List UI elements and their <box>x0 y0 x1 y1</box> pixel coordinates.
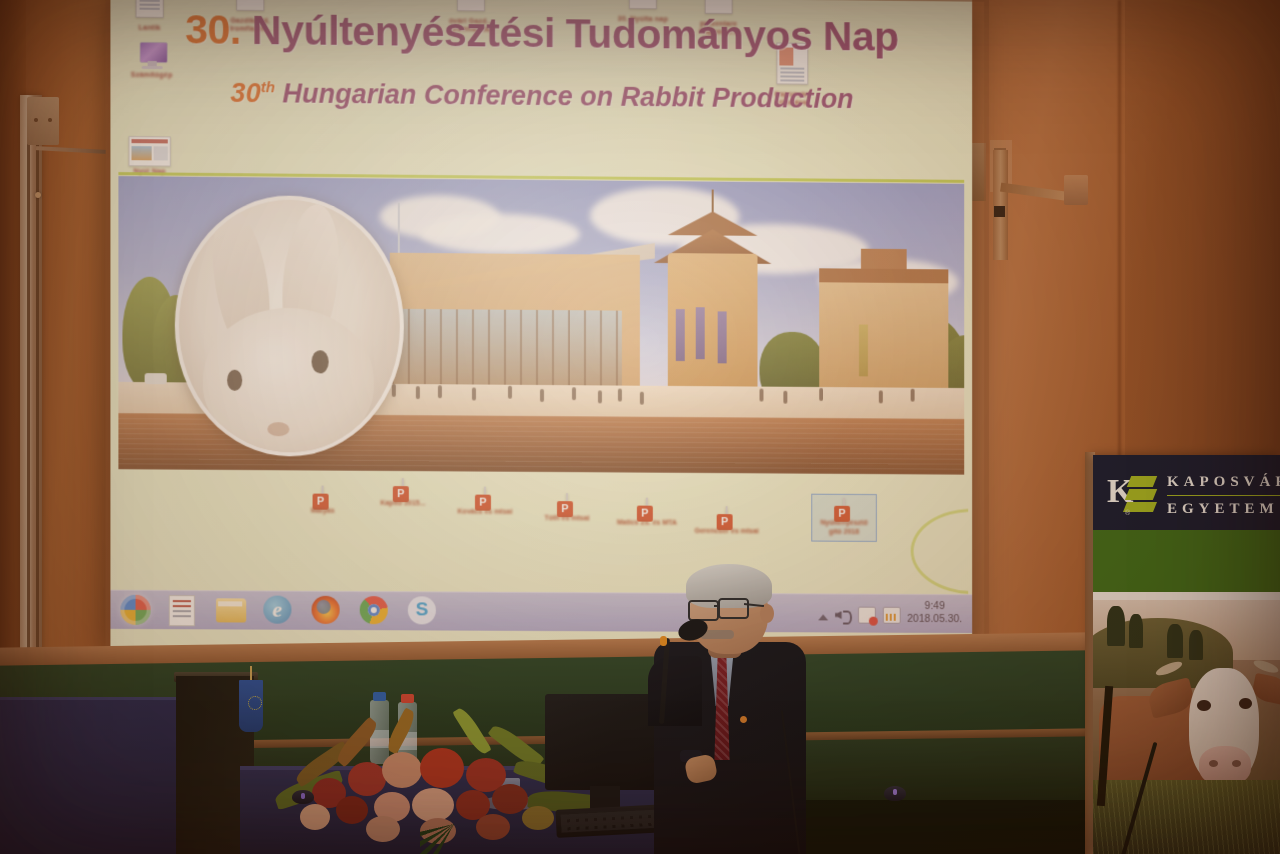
chrome-icon <box>360 596 388 624</box>
photo-banner <box>718 311 727 363</box>
flag-pole <box>250 666 252 680</box>
taskbar-chrome[interactable] <box>360 596 390 626</box>
eu-flag <box>236 672 266 734</box>
powerpoint-thumbnail-icon: P <box>322 486 324 505</box>
rail-groove-secondary <box>36 140 39 685</box>
file-icon-kapito[interactable]: P Kapitó 2015... <box>370 479 436 509</box>
windows-taskbar[interactable]: 9:49 2018.05.30. <box>110 590 972 633</box>
file-label: Gerencsér és mtsai <box>694 528 760 537</box>
rail-bolt <box>48 118 52 122</box>
file-label: Nyúltenyésztő gító 2018 <box>816 520 872 537</box>
bottle-cap <box>401 694 414 703</box>
powerpoint-thumbnail-icon: P <box>726 506 728 525</box>
word-icon <box>169 595 195 626</box>
photo-banner <box>676 309 685 361</box>
kaposvar-logo: K ® <box>1107 472 1153 514</box>
desktop-icon-nyul-nap[interactable]: Nyúl Nap <box>118 136 180 177</box>
conifer <box>1129 614 1143 648</box>
mount-wall-plate <box>1064 175 1088 205</box>
powerpoint-thumbnail-icon: P <box>566 493 568 512</box>
banner-header-navy: K ® KAPOSVÁRI EGYETEM <box>1093 455 1280 530</box>
file-icon-nyultenyeszto-selected[interactable]: P Nyúltenyésztő gító 2018 <box>811 494 877 542</box>
powerpoint-thumbnail-icon: P <box>646 498 648 517</box>
skype-icon <box>408 596 436 624</box>
logo-leaf <box>1127 476 1157 487</box>
slide-title-number: 30. <box>185 6 241 53</box>
photo-person <box>618 389 622 402</box>
rail-bolt <box>34 118 38 122</box>
rabbit-eye-right <box>312 350 329 373</box>
mount-post <box>993 150 1008 260</box>
rabbit-nose <box>267 422 289 436</box>
volume-icon[interactable] <box>835 607 851 623</box>
banner-university-type: EGYETEM <box>1167 500 1279 518</box>
banner-university-name: KAPOSVÁRI <box>1167 473 1280 491</box>
cow-nostril-right <box>1232 760 1241 767</box>
clock-date: 2018.05.30. <box>907 613 962 626</box>
flag-cloth <box>239 680 263 732</box>
system-tray[interactable]: 9:49 2018.05.30. <box>818 596 962 626</box>
rabbit-eye-left <box>227 370 242 391</box>
file-icon-gerencser[interactable]: P Gerencsér és mtsai <box>694 507 760 537</box>
photo-person <box>416 386 420 399</box>
conifer <box>1167 624 1183 658</box>
photo-person <box>879 390 883 403</box>
photo-person <box>819 388 823 401</box>
rail-groove <box>27 140 30 685</box>
photo-person <box>783 391 787 404</box>
photo-person <box>508 386 512 399</box>
taskbar-firefox[interactable] <box>312 596 342 626</box>
network-icon[interactable] <box>882 607 900 624</box>
powerpoint-thumbnail-icon: P <box>402 478 404 497</box>
file-selection-box: P Nyúltenyésztő gító 2018 <box>811 494 877 542</box>
photo-cupola <box>861 249 907 271</box>
taskbar-skype[interactable] <box>408 596 438 626</box>
presenter-glasses-left-lens <box>688 600 719 621</box>
presenter-glasses-bridge <box>714 605 720 607</box>
windows-orb-icon <box>120 595 150 625</box>
folder-icon <box>216 598 246 622</box>
clock-time: 9:49 <box>907 600 962 613</box>
action-center-icon[interactable] <box>858 607 876 624</box>
file-label: Kovács és mtsai <box>452 508 518 517</box>
slide-title-english-ordinal: th <box>261 79 275 96</box>
photo-car <box>145 373 167 384</box>
photo-person <box>392 384 396 397</box>
rail-mount-plate <box>27 97 59 145</box>
photo-person <box>540 389 544 402</box>
university-rollup-banner: K ® KAPOSVÁRI EGYETEM AGRÁR- ÉS KÖRNYEZE… <box>1093 455 1280 854</box>
file-icon-toth[interactable]: P Tóth és mtsai <box>534 494 600 524</box>
firefox-icon <box>312 596 340 624</box>
banner-photo-grass <box>1093 780 1280 854</box>
slide-title-english-number: 30 <box>231 78 261 108</box>
presenter <box>640 560 820 854</box>
rabbit-inset-photo <box>175 195 404 457</box>
photo-person <box>640 392 644 405</box>
taskbar-word[interactable] <box>169 595 199 625</box>
file-icon-matics[interactable]: P Matics Zs. és MTA <box>614 498 680 528</box>
internet-explorer-icon <box>263 596 291 624</box>
banner-faculty-green: AGRÁR- ÉS KÖRNYEZETTUDOMÁNYI <box>1093 530 1280 592</box>
logo-leaf <box>1125 489 1157 500</box>
banner-rule <box>1167 495 1280 496</box>
mouse[interactable] <box>292 790 314 804</box>
file-icon-kovacs[interactable]: P Kovács és mtsai <box>452 487 518 517</box>
presenter-lapel-pin <box>740 716 747 723</box>
file-label: Matics Zs. és MTA <box>614 519 680 528</box>
powerpoint-thumbnail-icon: P <box>843 498 845 517</box>
presenter-shoulder <box>648 656 702 726</box>
registered-mark: ® <box>1125 510 1130 517</box>
file-icon-matyas[interactable]: P Mátyás <box>289 486 355 516</box>
file-label: Mátyás <box>289 507 355 516</box>
powerpoint-thumbnail-icon: P <box>484 487 486 506</box>
photo-person <box>760 389 764 402</box>
taskbar-internet-explorer[interactable] <box>263 596 293 626</box>
file-label: Tóth és mtsai <box>534 515 600 524</box>
presentation-thumbnail-icon <box>128 136 170 167</box>
bottle-cap <box>373 692 386 701</box>
cow-eye-right <box>1239 698 1252 709</box>
conifer <box>1107 606 1125 646</box>
photo-person <box>572 387 576 400</box>
mount-junction-box <box>994 206 1005 217</box>
taskbar-clock[interactable]: 9:49 2018.05.30. <box>907 600 962 626</box>
taskbar-explorer[interactable] <box>216 595 246 625</box>
file-label: Kapitó 2015... <box>370 500 436 509</box>
photo-person <box>472 387 476 400</box>
projection-screen: Lantik Gazdiko Id. Iromfla Di... óvári G… <box>110 0 972 651</box>
start-button[interactable] <box>120 595 150 625</box>
photo-person <box>598 390 602 403</box>
mouse-secondary[interactable] <box>884 786 906 801</box>
slide-photo <box>118 176 964 475</box>
slide-title-hungarian: 30. Nyúltenyésztési Tudományos Nap <box>110 5 972 61</box>
banner-cow-photo <box>1093 600 1280 854</box>
presenter-glasses-right-lens <box>718 598 749 619</box>
conference-photo: Lantik Gazdiko Id. Iromfla Di... óvári G… <box>0 0 1280 854</box>
cow-nostril-left <box>1209 760 1218 767</box>
slide-title-hungarian-text: Nyúltenyésztési Tudományos Nap <box>252 7 899 60</box>
conifer <box>1189 630 1203 660</box>
wall-fixture-dot <box>35 192 41 198</box>
microphone-indicator <box>660 636 667 646</box>
slide-title-english-text: Hungarian Conference on Rabbit Productio… <box>283 78 854 114</box>
photo-person <box>911 389 915 402</box>
photo-person <box>438 385 442 398</box>
photo-banner <box>696 307 705 359</box>
cow-eye-left <box>1197 700 1211 711</box>
eu-stars <box>248 696 262 710</box>
photo-banner <box>859 324 868 376</box>
